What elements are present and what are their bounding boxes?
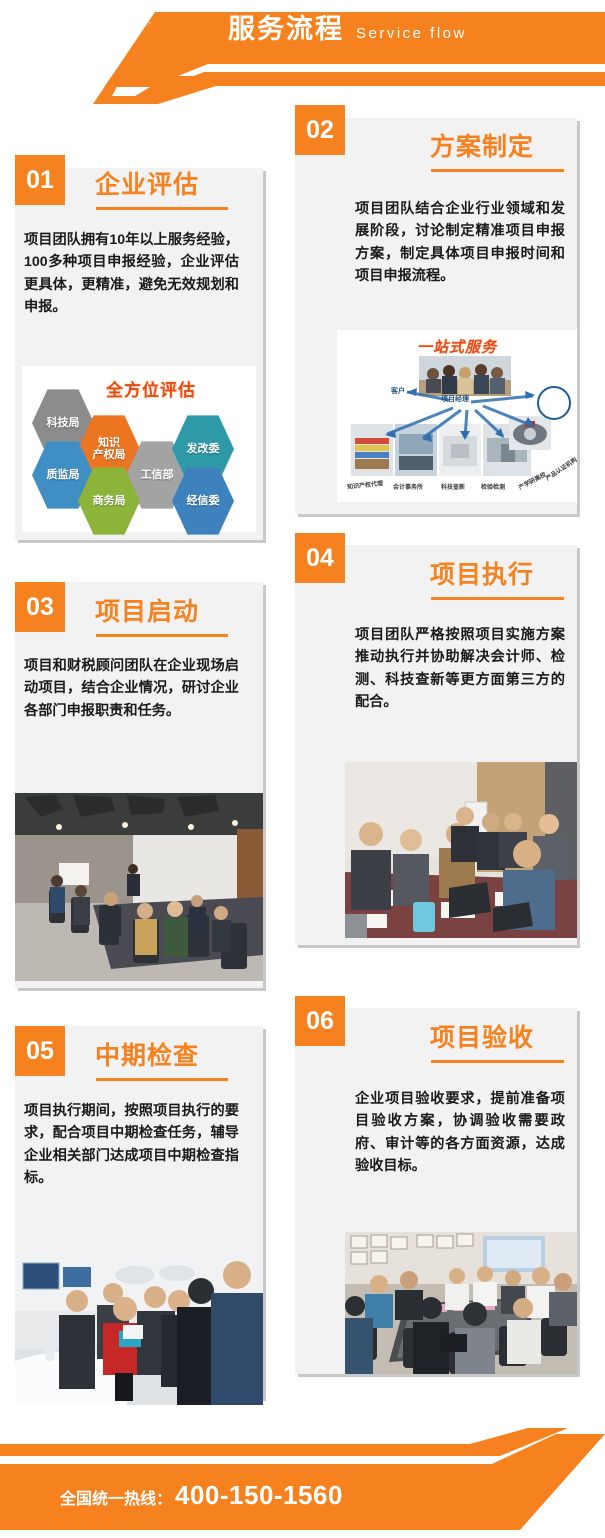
footer-hotline-number: 400-150-1560 xyxy=(175,1480,343,1511)
one-stop-service-diagram: 一站式服务 xyxy=(337,330,577,502)
card-05-photo-showroom-visit xyxy=(15,1253,263,1405)
card-06-badge: 06 xyxy=(295,996,345,1046)
card-03-badge: 03 xyxy=(15,582,65,632)
card-05-title-rule xyxy=(96,1078,228,1081)
one-stop-iso-seal: ISO xyxy=(537,386,571,420)
one-stop-title: 一站式服务 xyxy=(337,336,577,357)
one-stop-node-customer: 客户 xyxy=(391,386,405,396)
card-01-title-rule xyxy=(96,207,228,210)
card-04-title: 项目执行 xyxy=(430,555,534,591)
hex-diagram-title: 全方位评估 xyxy=(106,376,196,401)
card-03-body: 项目和财税顾问团队在企业现场启动项目，结合企业情况，研讨企业各部门申报职责和任务… xyxy=(24,655,239,722)
card-03-title-rule xyxy=(96,634,228,637)
card-05-badge: 05 xyxy=(15,1026,65,1076)
one-stop-caption-accounting: 会计事务所 xyxy=(393,482,423,491)
card-03-title: 项目启动 xyxy=(95,592,199,628)
card-06-photo-large-meeting xyxy=(345,1232,577,1374)
one-stop-caption-testing: 检验检测 xyxy=(481,482,505,491)
card-05-body: 项目执行期间，按照项目执行的要求，配合项目中期检查任务，辅导企业相关部门达成项目… xyxy=(24,1100,239,1190)
card-06-body: 企业项目验收要求，提前准备项目验收方案，协调验收需要政府、审计等的各方面资源，达… xyxy=(355,1088,565,1178)
card-04-title-rule xyxy=(431,597,564,600)
card-06-title-rule xyxy=(431,1060,564,1063)
card-01-body: 项目团队拥有10年以上服务经验，100多种项目申报经验，企业评估更具体，更精准，… xyxy=(24,229,239,319)
card-02-title-rule xyxy=(431,169,564,172)
header-title-cn: 服务流程 xyxy=(228,16,344,43)
service-flow-infographic: 服务流程 Service flow 01 企业评估 项目团队拥有10年以上服务经… xyxy=(0,0,605,1538)
card-02-title: 方案制定 xyxy=(430,127,534,163)
card-05-title: 中期检查 xyxy=(95,1036,199,1072)
card-02-badge: 02 xyxy=(295,105,345,155)
footer-hotline-label: 全国统一热线： xyxy=(60,1485,172,1509)
one-stop-caption-research: 科技查新 xyxy=(441,482,465,491)
hex-diagram: 全方位评估 科技局 知识 产权局 质监局 工信部 商务局 发改委 经信委 xyxy=(22,366,256,532)
header-title-en: Service flow xyxy=(356,26,467,41)
header-title: 服务流程 Service flow xyxy=(228,16,467,43)
footer-hotline: 全国统一热线： 400-150-1560 xyxy=(60,1480,343,1511)
card-06-title: 项目验收 xyxy=(430,1018,534,1054)
card-04-photo-working-meeting xyxy=(345,762,577,938)
card-01-title: 企业评估 xyxy=(95,165,199,201)
footer-banner: 全国统一热线： 400-150-1560 xyxy=(0,1428,605,1538)
header-banner: 服务流程 Service flow xyxy=(0,0,605,104)
card-04-body: 项目团队严格按照项目实施方案推动执行并协助解决会计师、检测、科技查新等更方面第三… xyxy=(355,624,565,714)
card-03-photo-conference-room xyxy=(15,793,263,981)
one-stop-node-manager: 项目经理 xyxy=(441,394,469,404)
card-01-badge: 01 xyxy=(15,155,65,205)
card-04-badge: 04 xyxy=(295,533,345,583)
card-02-body: 项目团队结合企业行业领域和发展阶段，讨论制定精准项目申报方案，制定具体项目申报时… xyxy=(355,198,565,288)
